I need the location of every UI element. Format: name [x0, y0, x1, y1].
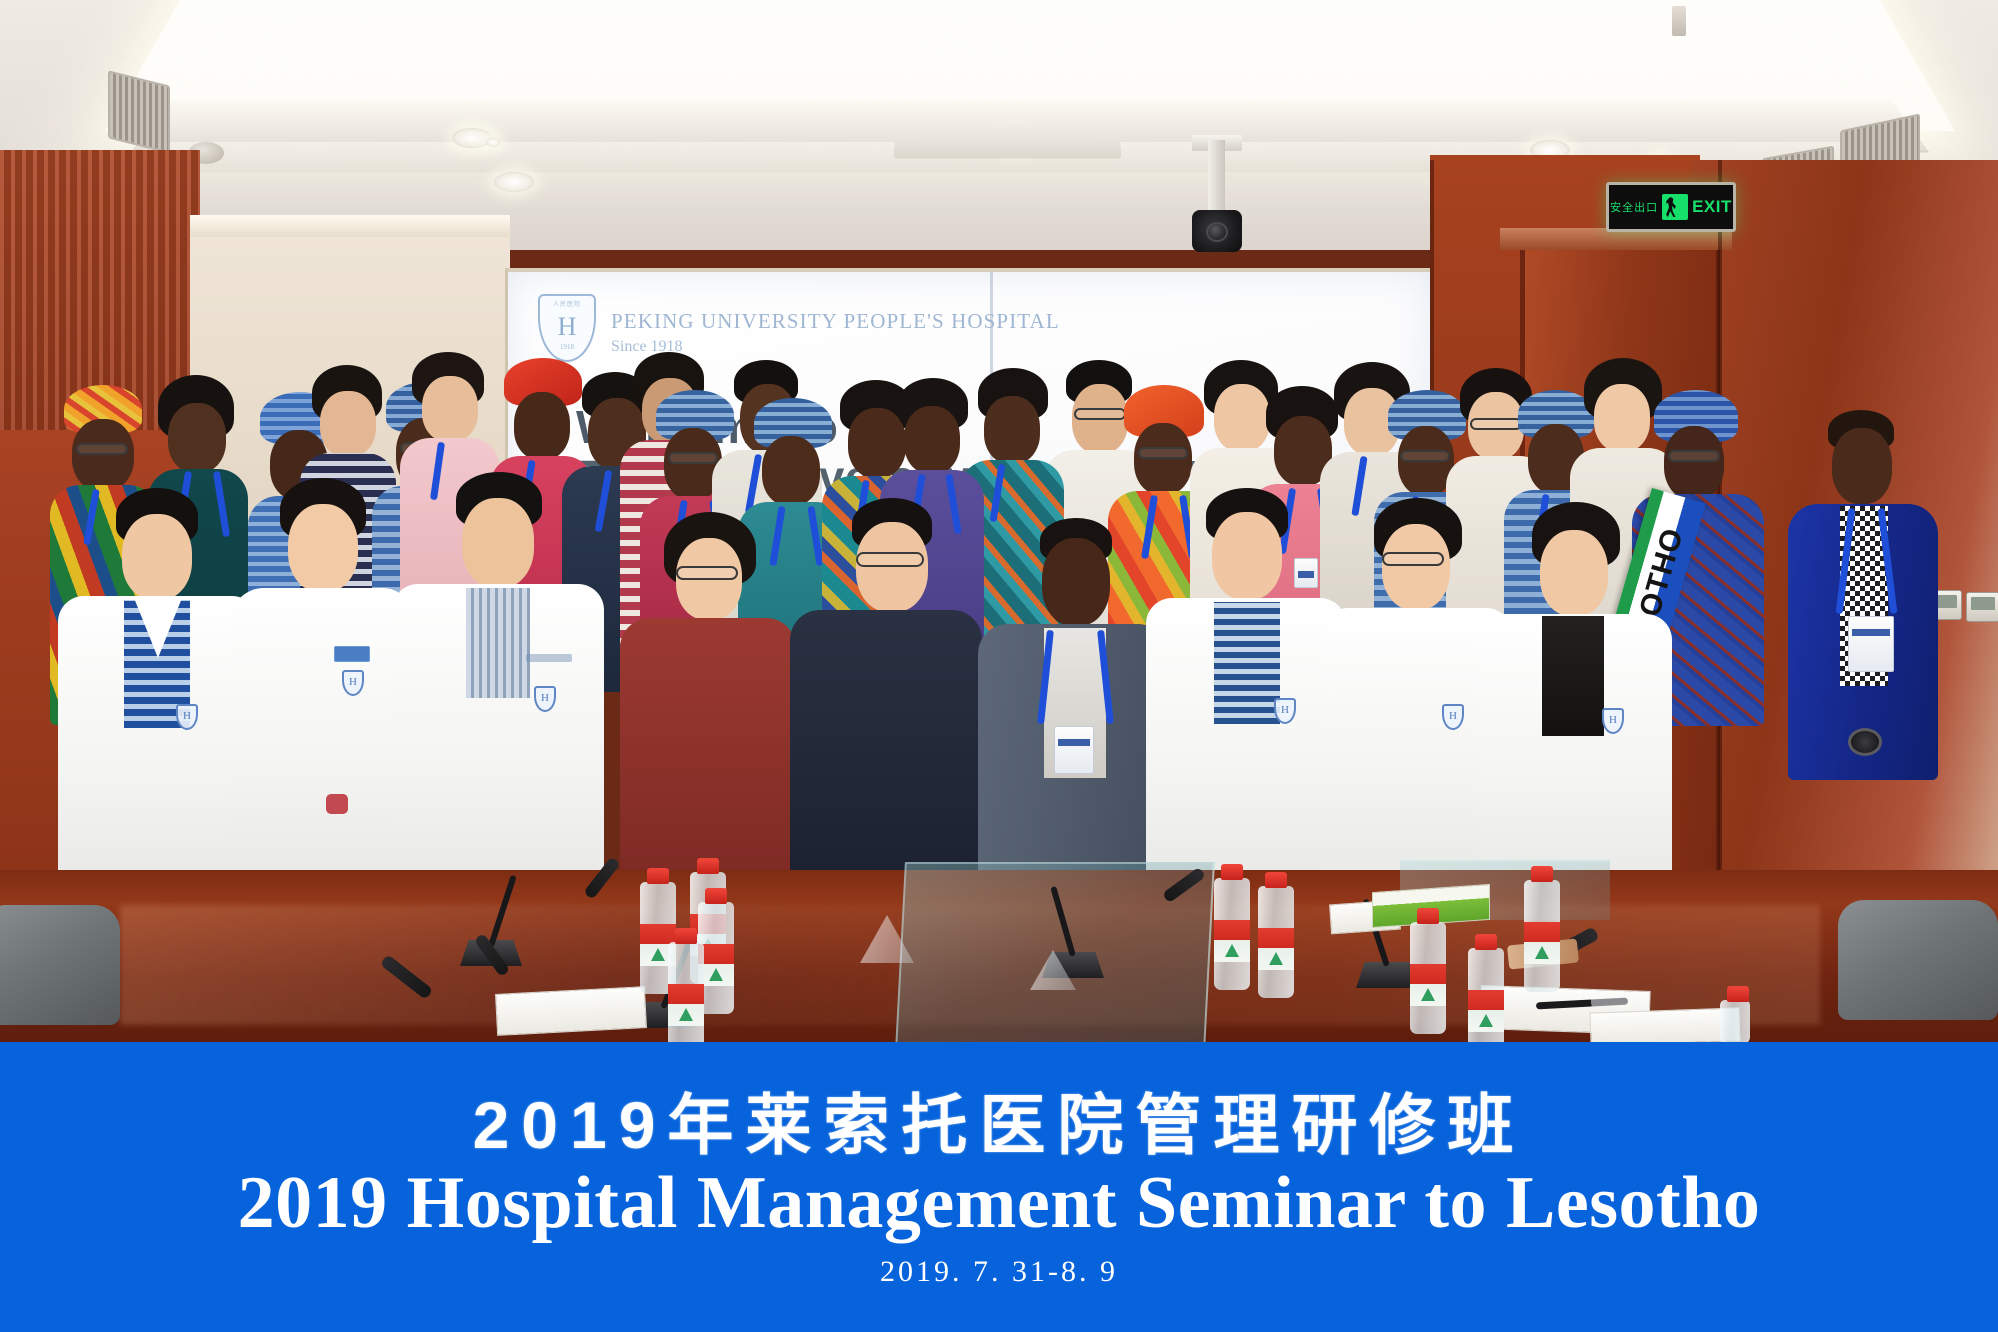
face: [904, 406, 960, 474]
face: [320, 391, 376, 457]
bottle-label: [1410, 964, 1446, 1006]
eyeglasses: [1400, 450, 1450, 462]
coat-lapel: [134, 598, 182, 658]
face: [984, 396, 1040, 464]
bottle-cap: [1531, 866, 1553, 882]
bottle-label: [1524, 922, 1560, 964]
bottle-cap: [1265, 872, 1287, 888]
bottle-cap: [1727, 986, 1749, 1002]
face: [1382, 524, 1450, 610]
water-bottle[interactable]: [668, 942, 704, 1054]
face: [1832, 428, 1892, 504]
face: [1664, 426, 1724, 500]
nurse-uniform: [230, 588, 416, 888]
sprinkler-head-icon: [1672, 6, 1686, 36]
inner-black-top: [1542, 616, 1604, 736]
running-person-icon: [1662, 194, 1688, 220]
coat-embroidered-name: [526, 654, 572, 662]
crest-chinese-label: 人民医院: [540, 299, 594, 308]
crest-year-label: 1918: [540, 343, 594, 351]
emergency-exit-sign: 安全出口 EXIT: [1606, 182, 1736, 232]
bottle-cap: [705, 888, 727, 904]
id-badge: [1848, 616, 1894, 672]
face: [856, 522, 928, 612]
face: [1212, 512, 1282, 600]
hospital-crest-icon: 人民医院 1918: [538, 294, 596, 362]
face: [168, 403, 226, 473]
face: [1042, 538, 1110, 626]
water-bottle[interactable]: [1524, 880, 1560, 992]
screen-organization-name: PEKING UNIVERSITY PEOPLE'S HOSPITAL: [611, 309, 1060, 334]
banner-title-chinese: 2019年莱索托医院管理研修班: [473, 1091, 1526, 1160]
inner-striped-shirt: [466, 588, 530, 698]
torso: [790, 610, 982, 888]
bottle-cap: [647, 868, 669, 884]
wristwatch: [1848, 728, 1882, 756]
bottle-label: [1214, 920, 1250, 962]
bottle-cap: [1417, 908, 1439, 924]
ceiling-downlight: [486, 138, 500, 147]
conference-camera-icon: [1192, 210, 1242, 252]
person-front-3-white-coat: [392, 472, 604, 890]
ceiling-downlight: [494, 172, 534, 192]
conference-chair[interactable]: [1838, 900, 1998, 1020]
projector-housing: [893, 124, 1121, 158]
face: [288, 504, 358, 592]
person-front-9-white-coat: [1478, 502, 1672, 894]
person-front-1-white-coat: [58, 488, 258, 888]
water-bottle[interactable]: [1720, 1000, 1750, 1044]
camera-lens-icon: [1206, 222, 1228, 242]
bottle-cap: [1475, 934, 1497, 950]
water-bottle[interactable]: [1214, 878, 1250, 990]
water-bottle[interactable]: [1410, 922, 1446, 1034]
camera-mount-arm: [1208, 140, 1225, 218]
handout-paper[interactable]: [495, 986, 647, 1036]
face: [422, 376, 478, 442]
person-front-2-nurse: [230, 478, 416, 888]
nurse-nametag: [334, 646, 370, 662]
face: [1540, 530, 1608, 616]
eyeglasses: [76, 443, 128, 455]
face: [462, 498, 534, 588]
banner-title-english: 2019 Hospital Management Seminar to Leso…: [238, 1164, 1761, 1242]
inner-striped-shirt: [1214, 602, 1280, 724]
bottle-cap: [675, 928, 697, 944]
ceiling-downlight: [452, 128, 492, 148]
id-badge: [1054, 726, 1094, 774]
torso: [620, 618, 796, 888]
bottle-label: [1468, 990, 1504, 1032]
face: [762, 436, 820, 506]
person-back-24: [1788, 410, 1938, 780]
wristwatch: [326, 794, 348, 814]
exit-sign-english-label: EXIT: [1692, 197, 1732, 217]
conference-chair[interactable]: [0, 905, 120, 1025]
wall-center-cornice: [190, 215, 510, 237]
bottle-label: [668, 984, 704, 1026]
person-front-4: [620, 512, 796, 888]
eyeglasses: [1138, 447, 1188, 459]
face: [122, 514, 192, 600]
air-vent: [108, 70, 170, 153]
person-front-6: [978, 518, 1168, 890]
face: [1134, 423, 1192, 495]
caption-banner: 2019年莱索托医院管理研修班 2019 Hospital Management…: [0, 1042, 1998, 1332]
eyeglasses: [1382, 552, 1444, 566]
water-bottle[interactable]: [1258, 886, 1294, 998]
eyeglasses: [676, 566, 738, 580]
exit-sign-chinese-label: 安全出口: [1610, 199, 1658, 215]
bottle-cap: [697, 858, 719, 874]
person-front-5: [790, 498, 982, 888]
person-front-7-white-coat: [1146, 488, 1346, 890]
eyeglasses: [1668, 450, 1720, 462]
face: [72, 419, 134, 491]
group-photograph: 安全出口 EXIT 人民医院 1918 PEKING UNIVERSITY PE…: [0, 0, 1998, 1332]
eyeglasses: [856, 552, 924, 567]
bottle-label: [1258, 928, 1294, 970]
bottle-cap: [1221, 864, 1243, 880]
banner-date-range: 2019. 7. 31-8. 9: [880, 1255, 1118, 1289]
eyeglasses: [668, 452, 718, 464]
handout-paper[interactable]: [1589, 1007, 1740, 1046]
